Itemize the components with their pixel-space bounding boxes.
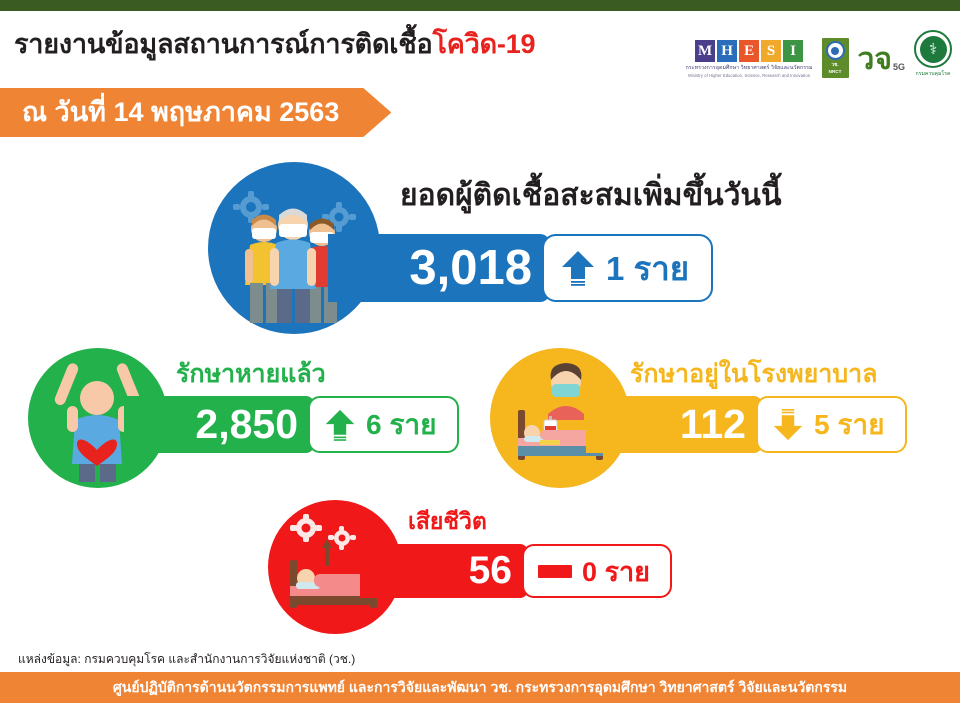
- cumulative-delta-pill: 1 ราย: [542, 234, 713, 302]
- wo-mark-glyph: วจ: [858, 48, 892, 72]
- footer-bar: ศูนย์ปฏิบัติการด้านนวัตกรรมการแพทย์ และก…: [0, 672, 960, 703]
- page-title-main: รายงานข้อมูลสถานการณ์การติดเชื้อ: [14, 29, 432, 59]
- mhesi-letter-h: H: [717, 40, 737, 62]
- stat-card-recovered: รักษาหายแล้ว 2,850 6 ราย: [28, 348, 488, 493]
- recovered-value: 2,850: [124, 396, 314, 453]
- top-green-strip: [0, 0, 960, 11]
- mhesi-logo: M H E S I กระทรวงการอุดมศึกษา วิทยาศาสตร…: [686, 40, 813, 78]
- hospitalized-label: รักษาอยู่ในโรงพยาบาล: [630, 354, 878, 394]
- page-title-highlight: โควิด-19: [432, 29, 535, 59]
- mhesi-letter-i: I: [783, 40, 803, 62]
- mhesi-subtitle-th: กระทรวงการอุดมศึกษา วิทยาศาสตร์ วิจัยและ…: [686, 64, 813, 72]
- logo-row: M H E S I กระทรวงการอุดมศึกษา วิทยาศาสตร…: [686, 16, 952, 78]
- recovered-value-bar: 2,850 6 ราย: [124, 396, 459, 453]
- stat-card-cumulative: ยอดผู้ติดเชื้อสะสมเพิ่มขึ้นวันนี้ 3,018 …: [208, 162, 808, 337]
- cumulative-value: 3,018: [328, 234, 550, 302]
- arrow-up-icon: [560, 249, 596, 287]
- recovered-delta-text: 6 ราย: [366, 403, 437, 447]
- nrct-badge: วช. NRCT: [822, 38, 849, 78]
- mhesi-letter-e: E: [739, 40, 759, 62]
- date-banner: ณ วันที่ 14 พฤษภาคม 2563: [0, 88, 391, 137]
- recovered-label: รักษาหายแล้ว: [176, 354, 326, 394]
- nrct-logo: วช. NRCT: [822, 38, 849, 78]
- moph-logo: ⚕ กรมควบคุมโรค: [914, 30, 952, 78]
- arrow-up-icon: [324, 408, 356, 442]
- moph-caption: กรมควบคุมโรค: [916, 70, 951, 78]
- mhesi-letter-s: S: [761, 40, 781, 62]
- wo-5g-badge: 5G: [893, 62, 905, 72]
- deaths-delta-pill: 0 ราย: [522, 544, 672, 598]
- wo-5g-logo: วจ 5G: [858, 48, 905, 78]
- cumulative-value-bar: 3,018 1 ราย: [328, 234, 713, 302]
- deaths-value-bar: 56 0 ราย: [360, 544, 672, 598]
- hospitalized-value: 112: [586, 396, 762, 453]
- stat-card-hospitalized: รักษาอยู่ในโรงพยาบาล 112 5 ราย: [490, 348, 950, 493]
- hospitalized-delta-text: 5 ราย: [814, 403, 885, 447]
- moph-seal-icon: ⚕: [914, 30, 952, 68]
- no-change-dash-icon: [538, 565, 572, 578]
- source-line: แหล่งข้อมูล: กรมควบคุมโรค และสำนักงานการ…: [18, 650, 355, 669]
- mhesi-letter-m: M: [695, 40, 715, 62]
- stat-card-deaths: เสียชีวิต 56 0 ราย: [268, 500, 688, 638]
- deaths-delta-text: 0 ราย: [582, 550, 650, 593]
- arrow-down-icon: [772, 408, 804, 442]
- page-title: รายงานข้อมูลสถานการณ์การติดเชื้อโควิด-19: [14, 22, 535, 65]
- mhesi-subtitle-en: Ministry of Higher Education, Science, R…: [688, 73, 810, 78]
- nrct-label-en: NRCT: [829, 69, 842, 74]
- deaths-label: เสียชีวิต: [408, 504, 487, 540]
- mhesi-letter-blocks: M H E S I: [695, 40, 803, 62]
- infographic-page: รายงานข้อมูลสถานการณ์การติดเชื้อโควิด-19…: [0, 0, 960, 703]
- hospitalized-value-bar: 112 5 ราย: [586, 396, 907, 453]
- nrct-label-th: วช.: [832, 62, 839, 69]
- cumulative-delta-text: 1 ราย: [606, 242, 689, 295]
- nrct-gear-icon: [826, 41, 845, 60]
- deaths-value: 56: [360, 544, 528, 598]
- caduceus-icon: ⚕: [920, 36, 947, 63]
- cumulative-label: ยอดผู้ติดเชื้อสะสมเพิ่มขึ้นวันนี้: [400, 172, 781, 219]
- recovered-delta-pill: 6 ราย: [308, 396, 459, 453]
- hospitalized-delta-pill: 5 ราย: [756, 396, 907, 453]
